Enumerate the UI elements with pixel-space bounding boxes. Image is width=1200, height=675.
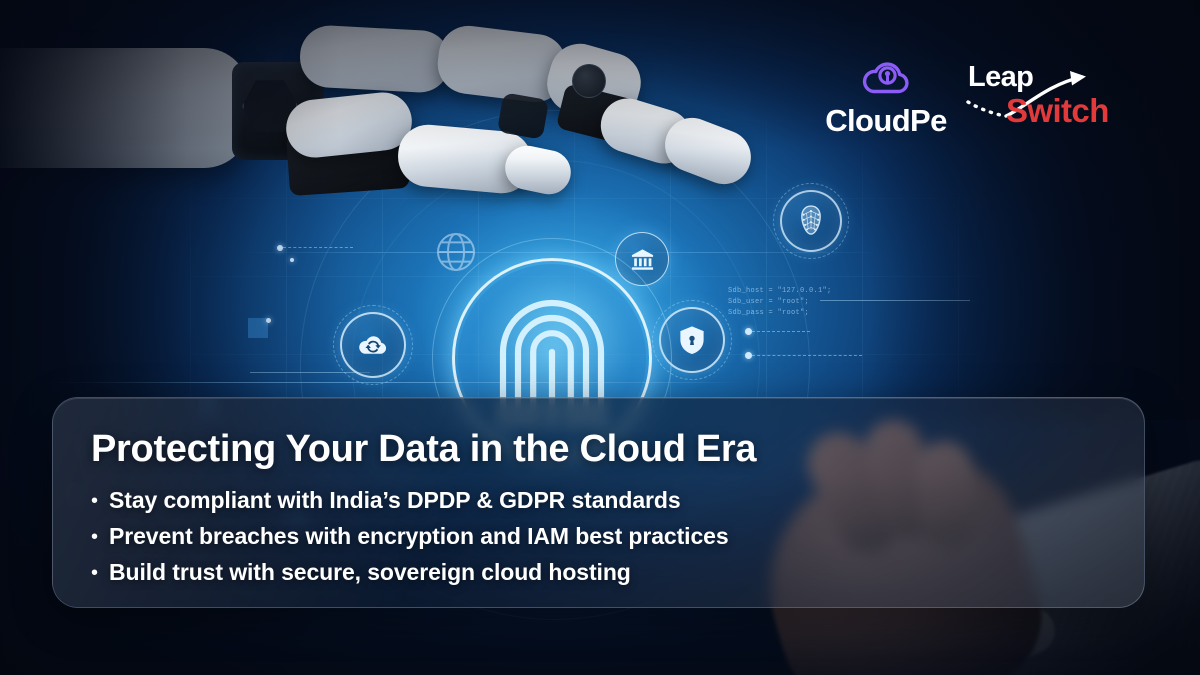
cloud-pin-icon <box>858 58 914 98</box>
hud-trace <box>820 300 970 301</box>
badge-tick-ring <box>773 183 849 259</box>
leapswitch-leap-word: Leap <box>968 61 1033 94</box>
page-title: Protecting Your Data in the Cloud Era <box>91 428 1144 471</box>
robotic-hand <box>0 0 720 250</box>
hud-chip <box>248 318 268 338</box>
robot-joint <box>497 92 549 139</box>
hud-code-text: Sdb_host = "127.0.0.1"; Sdb_user = "root… <box>728 286 832 319</box>
list-item-label: Stay compliant with India’s DPDP & GDPR … <box>109 487 681 514</box>
robot-joint-disc <box>572 64 606 98</box>
bullet-marker: • <box>91 491 98 511</box>
list-item-label: Build trust with secure, sovereign cloud… <box>109 559 631 586</box>
cloudpe-logo[interactable]: CloudPe <box>822 58 950 138</box>
face-scan-icon <box>780 190 842 252</box>
hud-node <box>745 328 752 335</box>
content-card: Protecting Your Data in the Cloud Era • … <box>52 397 1145 608</box>
hud-node <box>290 258 294 262</box>
leapswitch-switch-word: Switch <box>1006 92 1109 130</box>
benefits-list: • Stay compliant with India’s DPDP & GDP… <box>91 487 1144 586</box>
robot-forearm <box>0 48 250 168</box>
list-item-label: Prevent breaches with encryption and IAM… <box>109 523 729 550</box>
bullet-marker: • <box>91 563 98 583</box>
list-item: • Build trust with secure, sovereign clo… <box>91 559 1144 586</box>
hud-node <box>745 352 752 359</box>
hud-node <box>266 318 271 323</box>
security-marketing-banner: Sdb_host = "127.0.0.1"; Sdb_user = "root… <box>0 0 1200 675</box>
list-item: • Stay compliant with India’s DPDP & GDP… <box>91 487 1144 514</box>
cloudpe-wordmark: CloudPe <box>822 105 950 136</box>
hud-trace <box>752 355 862 356</box>
cloud-sync-icon <box>340 312 406 378</box>
robot-finger-segment <box>298 24 451 94</box>
badge-tick-ring <box>333 305 413 385</box>
hud-trace <box>752 331 810 332</box>
bullet-marker: • <box>91 527 98 547</box>
list-item: • Prevent breaches with encryption and I… <box>91 523 1144 550</box>
leapswitch-logo[interactable]: Leap Switch <box>962 58 1147 138</box>
